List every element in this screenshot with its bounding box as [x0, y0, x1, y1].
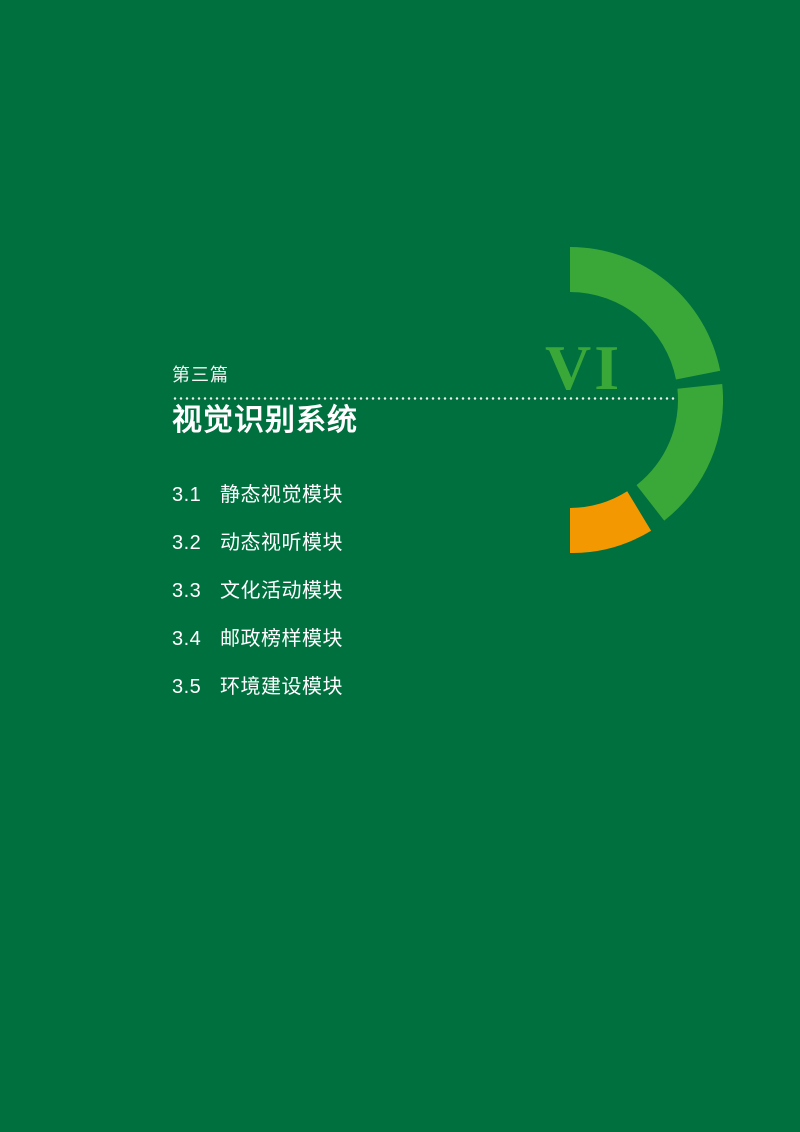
heading-block: 第三篇 视觉识别系统: [172, 362, 692, 440]
toc-entry-number: 3.5: [172, 663, 220, 711]
toc-entry-label: 动态视听模块: [220, 519, 343, 567]
page-title: 视觉识别系统: [172, 402, 692, 440]
toc-entry-number: 3.2: [172, 519, 220, 567]
section-divider-page: VI 第三篇 视觉识别系统 3.1 静态视觉模块 3.2 动态视听模块 3.3 …: [0, 0, 800, 1132]
toc-entry-label: 文化活动模块: [220, 567, 343, 615]
toc-entry-3-4[interactable]: 3.4 邮政榜样模块: [172, 615, 652, 663]
toc-entry-label: 邮政榜样模块: [220, 615, 343, 663]
table-of-contents: 3.1 静态视觉模块 3.2 动态视听模块 3.3 文化活动模块 3.4 邮政榜…: [172, 471, 652, 711]
toc-entry-number: 3.1: [172, 471, 220, 519]
toc-entry-3-5[interactable]: 3.5 环境建设模块: [172, 663, 652, 711]
section-kicker: 第三篇: [172, 362, 692, 388]
toc-entry-3-3[interactable]: 3.3 文化活动模块: [172, 567, 652, 615]
toc-entry-number: 3.3: [172, 567, 220, 615]
toc-entry-3-2[interactable]: 3.2 动态视听模块: [172, 519, 652, 567]
toc-entry-number: 3.4: [172, 615, 220, 663]
toc-entry-label: 静态视觉模块: [220, 471, 343, 519]
toc-entry-3-1[interactable]: 3.1 静态视觉模块: [172, 471, 652, 519]
toc-entry-label: 环境建设模块: [220, 663, 343, 711]
